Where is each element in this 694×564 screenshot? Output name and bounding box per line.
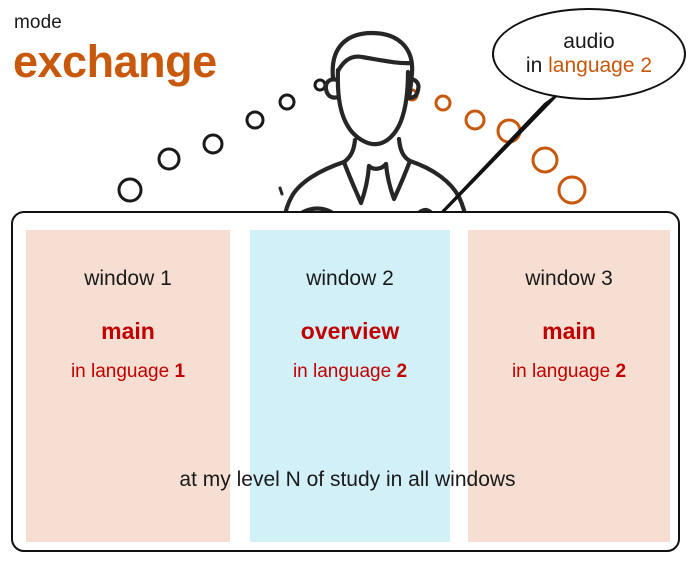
window-mode: main (26, 318, 230, 346)
black-bubbles-group (119, 80, 325, 201)
window-language-number: 1 (174, 361, 185, 382)
window-column-1[interactable]: window 1 main in language 1 (26, 230, 230, 542)
orange-bubble-icon (436, 96, 450, 110)
window-language: in language 1 (26, 361, 230, 384)
black-bubble-icon (280, 95, 294, 109)
orange-bubble-icon (466, 111, 484, 129)
window-language: in language 2 (468, 361, 670, 384)
speech-bubble: audio in language 2 (492, 8, 686, 100)
window-language-prefix: in language (512, 361, 616, 382)
speech-bubble-line-2: in language 2 (526, 54, 652, 78)
window-title: window 2 (250, 266, 450, 291)
speech-bubble-line-1: audio (563, 30, 614, 54)
orange-bubble-icon (559, 177, 585, 203)
window-column-3[interactable]: window 3 main in language 2 (468, 230, 670, 542)
window-column-2[interactable]: window 2 overview in language 2 (250, 230, 450, 542)
black-bubble-icon (204, 135, 222, 153)
window-language-number: 2 (615, 361, 626, 382)
windows-panel: window 1 main in language 1 window 2 ove… (11, 211, 680, 552)
window-language-prefix: in language (71, 361, 175, 382)
orange-bubble-icon (498, 120, 520, 142)
speech-bubble-line-2-prefix: in (526, 54, 542, 77)
window-language-number: 2 (396, 361, 407, 382)
window-title: window 1 (26, 266, 230, 291)
orange-bubbles-group (407, 90, 585, 203)
black-bubble-icon (247, 112, 263, 128)
orange-bubble-icon (533, 148, 557, 172)
black-bubble-icon (119, 179, 141, 201)
speech-bubble-line-2-highlight: language 2 (548, 54, 652, 77)
black-bubble-icon (159, 149, 179, 169)
window-mode: main (468, 318, 670, 346)
stray-mark-icon (280, 188, 282, 194)
window-title: window 3 (468, 266, 670, 291)
black-bubble-icon (315, 80, 325, 90)
window-mode: overview (250, 318, 450, 346)
window-language-prefix: in language (293, 361, 397, 382)
window-language: in language 2 (250, 361, 450, 384)
